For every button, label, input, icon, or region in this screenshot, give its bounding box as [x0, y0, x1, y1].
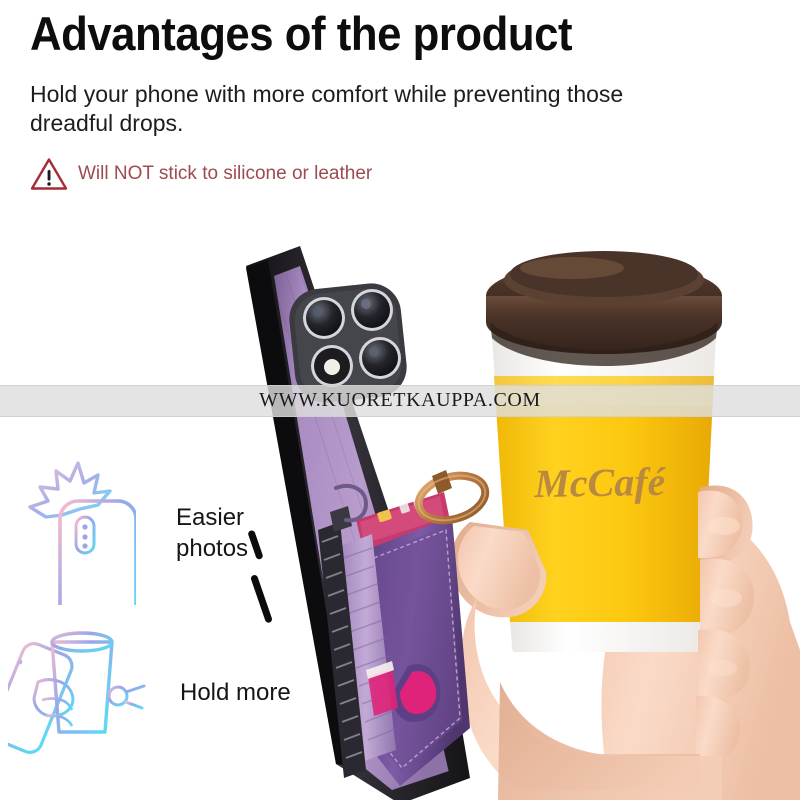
- warning-note: Will NOT stick to silicone or leather: [29, 156, 372, 192]
- camera-flash-phone-icon: [18, 455, 136, 610]
- feature-label-line1: Easier: [176, 504, 244, 531]
- feature-label-line2: photos: [176, 535, 248, 562]
- product-infographic: Advantages of the product Hold your phon…: [0, 0, 800, 800]
- feature-label: Easier photos: [176, 502, 248, 564]
- warning-text: Will NOT stick to silicone or leather: [78, 163, 372, 185]
- page-subtitle: Hold your phone with more comfort while …: [30, 80, 650, 138]
- watermark-text: WWW.KUORETKAUPPA.COM: [0, 385, 800, 415]
- hand-holding-phone-and-cup-icon: [8, 620, 158, 765]
- warning-triangle-icon: [29, 156, 69, 192]
- cup-brand-text: McCafé: [533, 459, 667, 506]
- page-title: Advantages of the product: [30, 8, 718, 60]
- feature-hold-more: Hold more: [8, 620, 291, 765]
- feature-label: Hold more: [180, 677, 291, 708]
- feature-easier-photos: Easier photos: [18, 455, 248, 610]
- feature-label-line1: Hold more: [180, 679, 291, 706]
